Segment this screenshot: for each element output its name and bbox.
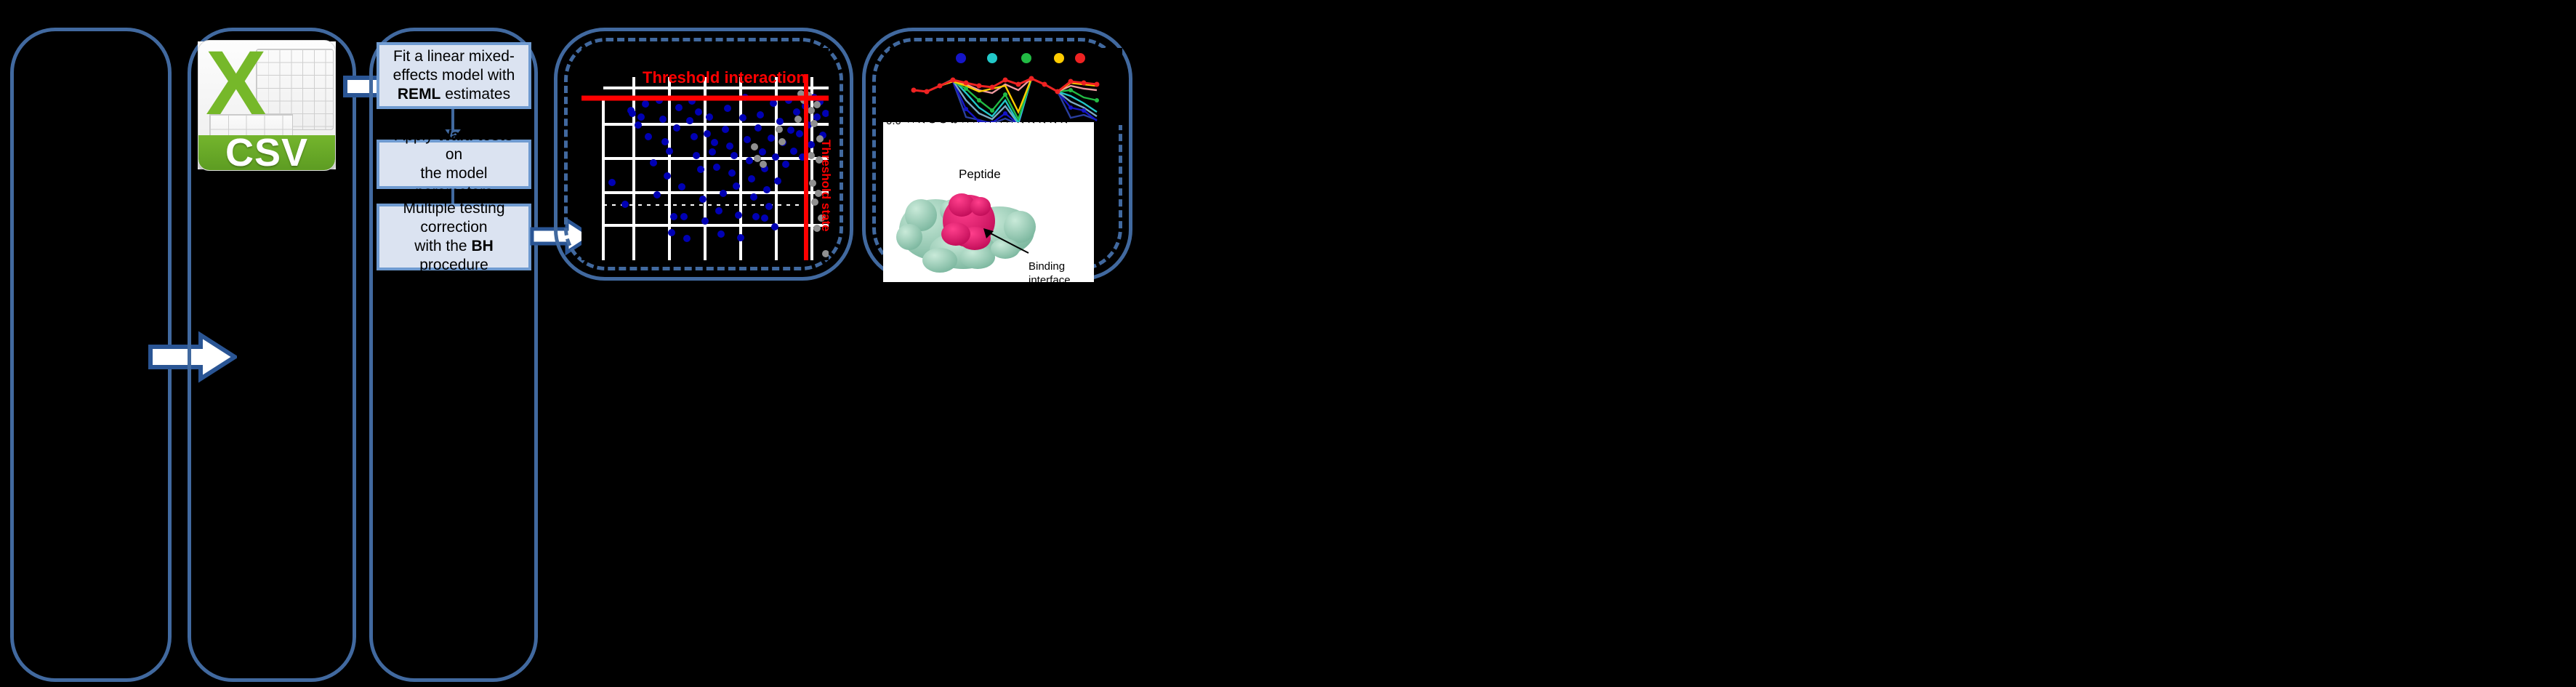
stage-box-input[interactable] — [10, 28, 172, 682]
fit-model-line1: Fit a linear mixed- — [393, 48, 515, 65]
peptide-tick-4: 81-101 — [949, 122, 959, 124]
csv-file-icon: X CSV — [198, 40, 336, 171]
bh-line1: Multiple testing — [403, 200, 504, 217]
peptide-line-chart — [890, 48, 1122, 125]
process-box-wald-tests[interactable]: Apply Wald tests on the model parameters — [377, 140, 531, 189]
peptide-tick-11: 218-237 — [1026, 122, 1037, 124]
peptide-tick-10: 200-214 — [1015, 122, 1026, 124]
peptide-tick-14: 277-284 — [1058, 122, 1069, 124]
peptide-tick-7: 158-166 — [982, 122, 993, 124]
legend-dot-teal — [987, 53, 997, 63]
peptide-axis-title: Peptide — [959, 167, 1001, 182]
wald-line1-pre: Apply — [395, 127, 437, 144]
peptide-line-chart-svg — [890, 48, 1122, 125]
process-box-bh-correction[interactable]: Multiple testing correction with the BH … — [377, 204, 531, 270]
wald-line1-post: on — [446, 146, 462, 163]
peptide-tick-2: 63-73 — [927, 122, 938, 124]
flowchart-canvas: X CSV Fit a linear mixed- effects model … — [0, 0, 2576, 687]
peptide-tick-3: 67-75 — [938, 122, 949, 124]
peptide-tick-0: 1-15 — [905, 122, 916, 124]
binding-interface-label: Binding interface — [1029, 260, 1071, 282]
process-box-fit-model[interactable]: Fit a linear mixed- effects model with R… — [377, 42, 531, 109]
fit-model-estimates: estimates — [440, 86, 510, 103]
peptide-xtick-labels: 1-15 28-44 63-73 67-75 81-101 122-129 13… — [883, 122, 1094, 167]
fit-model-reml: REML — [398, 86, 441, 103]
peptide-surface-magenta — [941, 193, 995, 250]
peptide-tick-8: 167-180 — [993, 122, 1004, 124]
bh-line2: correction — [420, 219, 487, 236]
csv-format-label: CSV — [225, 133, 308, 171]
peptide-axis-and-structure-panel: 0.0 1-15 28-44 63-73 67-75 81-101 122-12… — [883, 122, 1094, 282]
peptide-tick-9: 184-199 — [1004, 122, 1015, 124]
csv-file-thumbnail: X CSV — [198, 41, 336, 169]
peptide-tick-13: 258-266 — [1047, 122, 1058, 124]
binding-interface-line2: interface — [1029, 274, 1071, 282]
peptide-tick-1: 28-44 — [916, 122, 927, 124]
csv-format-band: CSV — [198, 135, 335, 170]
excel-x-glyph: X — [205, 46, 267, 121]
bh-line3-post: procedure — [419, 257, 488, 273]
peptide-tick-5: 122-129 — [959, 122, 970, 124]
wald-bold: Wald tests — [438, 127, 513, 144]
threshold-state-label: Threshold state — [818, 140, 833, 232]
bh-line3-pre: with the — [414, 238, 471, 254]
peptide-tick-12: 241-257 — [1037, 122, 1047, 124]
legend-dot-yellow — [1054, 53, 1064, 63]
binding-interface-line1: Binding — [1029, 260, 1071, 274]
legend-dot-blue — [956, 53, 966, 63]
threshold-interaction-label: Threshold interaction — [643, 68, 806, 87]
legend-dot-green — [1021, 53, 1031, 63]
peptide-tick-6: 135-144 — [970, 122, 981, 124]
bh-bold: BH — [471, 238, 493, 254]
fit-model-line2: effects model with — [393, 67, 515, 84]
legend-dot-red — [1075, 53, 1085, 63]
